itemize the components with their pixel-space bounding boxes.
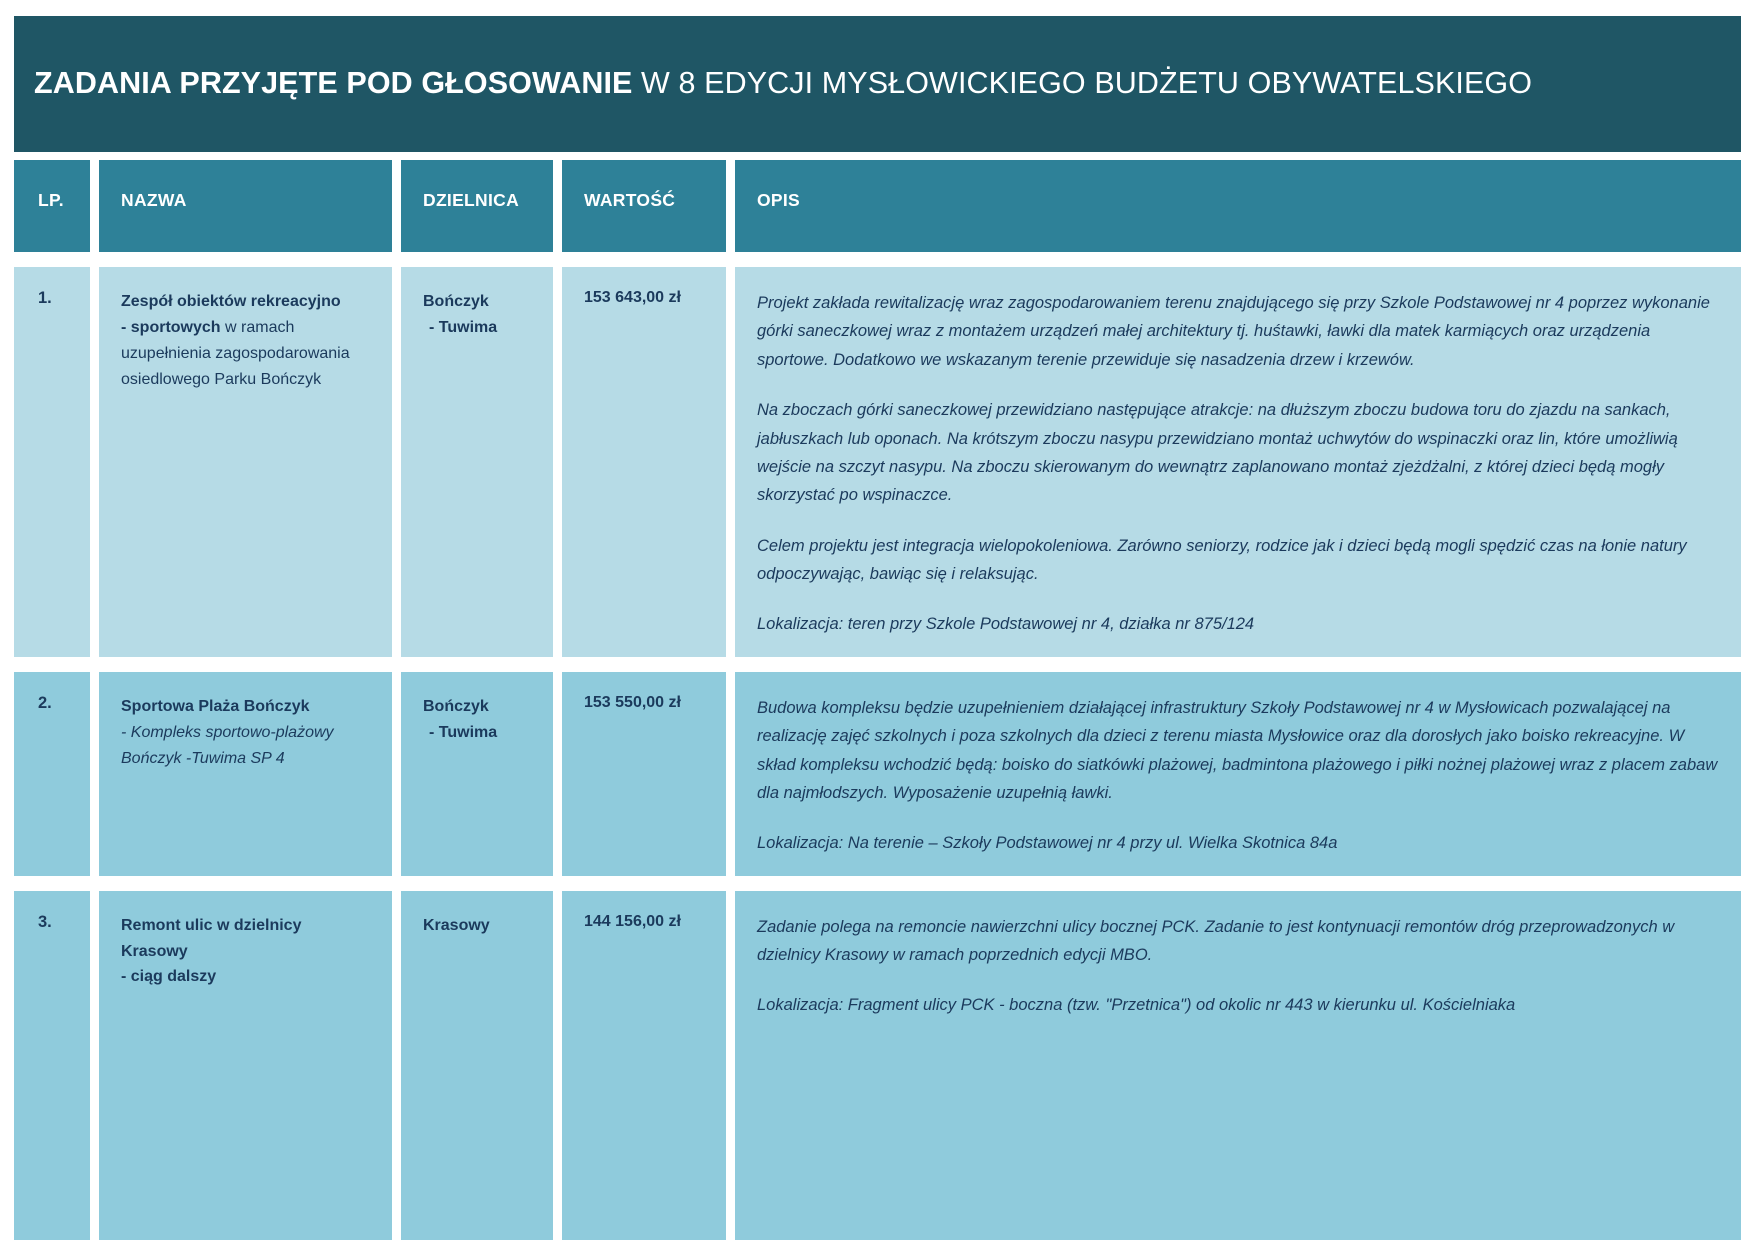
task-name: Remont ulic w dzielnicy Krasowy - ciąg d… <box>121 913 372 991</box>
document-title-banner: ZADANIA PRZYJĘTE POD GŁOSOWANIE W 8 EDYC… <box>14 16 1741 152</box>
page-title-light: W 8 EDYCJI MYSŁOWICKIEGO BUDŻETU OBYWATE… <box>632 66 1532 100</box>
description-paragraph: Projekt zakłada rewitalizację wraz zagos… <box>757 289 1721 374</box>
task-description: Projekt zakłada rewitalizację wraz zagos… <box>757 289 1721 639</box>
row-name-cell: Sportowa Plaża Bończyk - Kompleks sporto… <box>99 672 392 876</box>
task-name: Zespół obiektów rekreacyjno - sportowych… <box>121 289 372 393</box>
row-value-cell: 153 643,00 zł <box>562 267 726 657</box>
document-page: ZADANIA PRZYJĘTE POD GŁOSOWANIE W 8 EDYC… <box>0 0 1755 1240</box>
description-paragraph: Na zboczach górki saneczkowej przewidzia… <box>757 396 1721 510</box>
description-paragraph: Zadanie polega na remoncie nawierzchni u… <box>757 913 1721 970</box>
description-location: Lokalizacja: Na terenie – Szkoły Podstaw… <box>757 829 1721 857</box>
table-row: 3. Remont ulic w dzielnicy Krasowy - cią… <box>14 891 1741 1240</box>
task-district: Bończyk - Tuwima <box>423 289 533 341</box>
description-paragraph: Celem projektu jest integracja wielopoko… <box>757 532 1721 589</box>
task-value: 144 156,00 zł <box>584 913 681 930</box>
row-name-cell: Zespół obiektów rekreacyjno - sportowych… <box>99 267 392 657</box>
column-header-wartosc: WARTOŚĆ <box>562 160 726 252</box>
row-description-cell: Zadanie polega na remoncie nawierzchni u… <box>735 891 1741 1240</box>
table-row: 1. Zespół obiektów rekreacyjno - sportow… <box>14 267 1741 657</box>
task-description: Zadanie polega na remoncie nawierzchni u… <box>757 913 1721 1020</box>
column-header-lp: LP. <box>14 160 90 252</box>
row-description-cell: Budowa kompleksu będzie uzupełnieniem dz… <box>735 672 1741 876</box>
tasks-table: LP. NAZWA DZIELNICA WARTOŚĆ OPIS 1. <box>14 160 1741 1240</box>
row-gap <box>14 876 1741 891</box>
table-row: 2. Sportowa Plaża Bończyk - Kompleks spo… <box>14 672 1741 876</box>
row-district-cell: Krasowy <box>401 891 553 1240</box>
row-district-cell: Bończyk - Tuwima <box>401 672 553 876</box>
task-district: Krasowy <box>423 913 533 939</box>
task-value: 153 550,00 zł <box>584 694 681 711</box>
page-title: ZADANIA PRZYJĘTE POD GŁOSOWANIE W 8 EDYC… <box>34 67 1532 101</box>
page-title-strong: ZADANIA PRZYJĘTE POD GŁOSOWANIE <box>34 66 632 100</box>
task-value: 153 643,00 zł <box>584 289 681 306</box>
task-district: Bończyk - Tuwima <box>423 694 533 746</box>
row-name-cell: Remont ulic w dzielnicy Krasowy - ciąg d… <box>99 891 392 1240</box>
table-header-row: LP. NAZWA DZIELNICA WARTOŚĆ OPIS <box>14 160 1741 252</box>
row-index-cell: 3. <box>14 891 90 1240</box>
row-index-cell: 2. <box>14 672 90 876</box>
task-name: Sportowa Plaża Bończyk - Kompleks sporto… <box>121 694 372 772</box>
task-description: Budowa kompleksu będzie uzupełnieniem dz… <box>757 694 1721 858</box>
row-district-cell: Bończyk - Tuwima <box>401 267 553 657</box>
column-header-nazwa: NAZWA <box>99 160 392 252</box>
row-value-cell: 153 550,00 zł <box>562 672 726 876</box>
row-gap <box>14 657 1741 672</box>
header-gap <box>14 252 1741 267</box>
row-index-cell: 1. <box>14 267 90 657</box>
description-location: Lokalizacja: teren przy Szkole Podstawow… <box>757 610 1721 638</box>
description-paragraph: Budowa kompleksu będzie uzupełnieniem dz… <box>757 694 1721 808</box>
column-header-dzielnica: DZIELNICA <box>401 160 553 252</box>
description-location: Lokalizacja: Fragment ulicy PCK - boczna… <box>757 991 1721 1019</box>
column-header-opis: OPIS <box>735 160 1741 252</box>
row-value-cell: 144 156,00 zł <box>562 891 726 1240</box>
row-description-cell: Projekt zakłada rewitalizację wraz zagos… <box>735 267 1741 657</box>
